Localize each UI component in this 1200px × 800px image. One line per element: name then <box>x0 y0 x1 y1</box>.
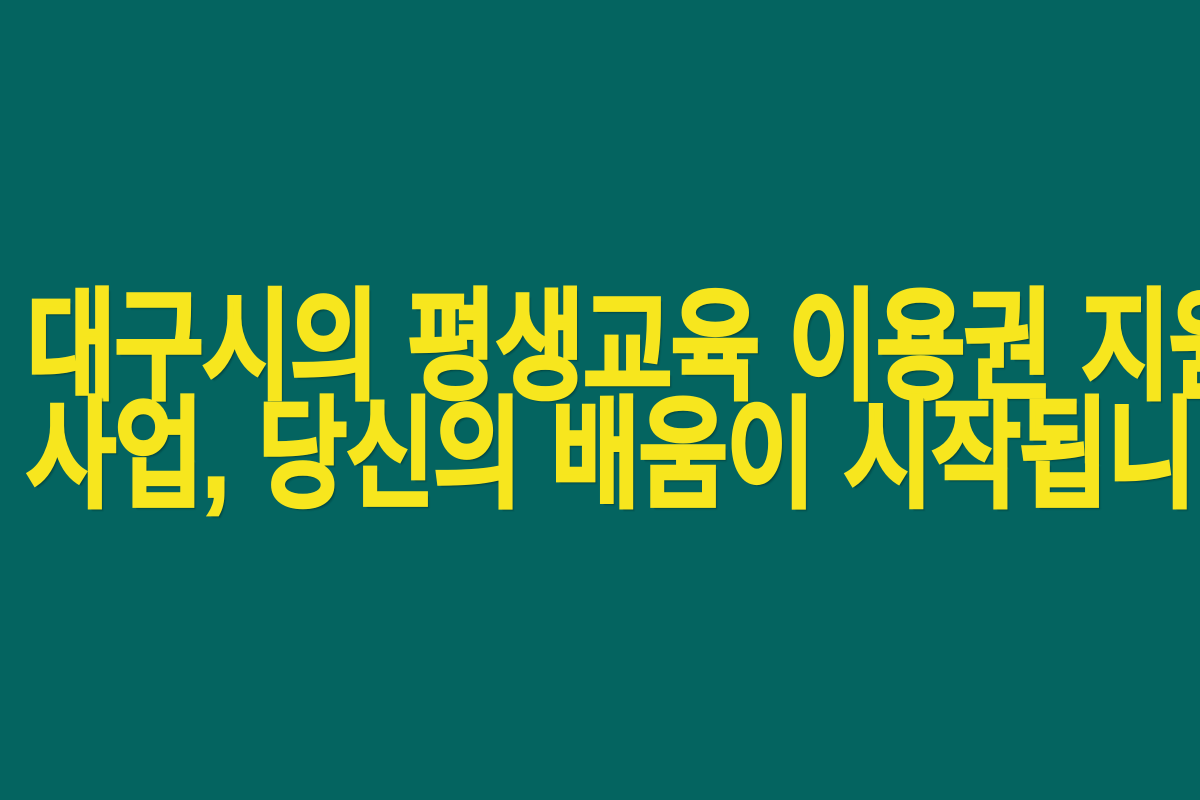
headline-line-2: 사업, 당신의 배움이 시작됩니다 <box>27 393 1173 518</box>
banner-canvas: 대구시의 평생교육 이용권 지원 사업, 당신의 배움이 시작됩니다 <box>0 0 1200 800</box>
headline-block: 대구시의 평생교육 이용권 지원 사업, 당신의 배움이 시작됩니다 <box>0 295 1200 509</box>
